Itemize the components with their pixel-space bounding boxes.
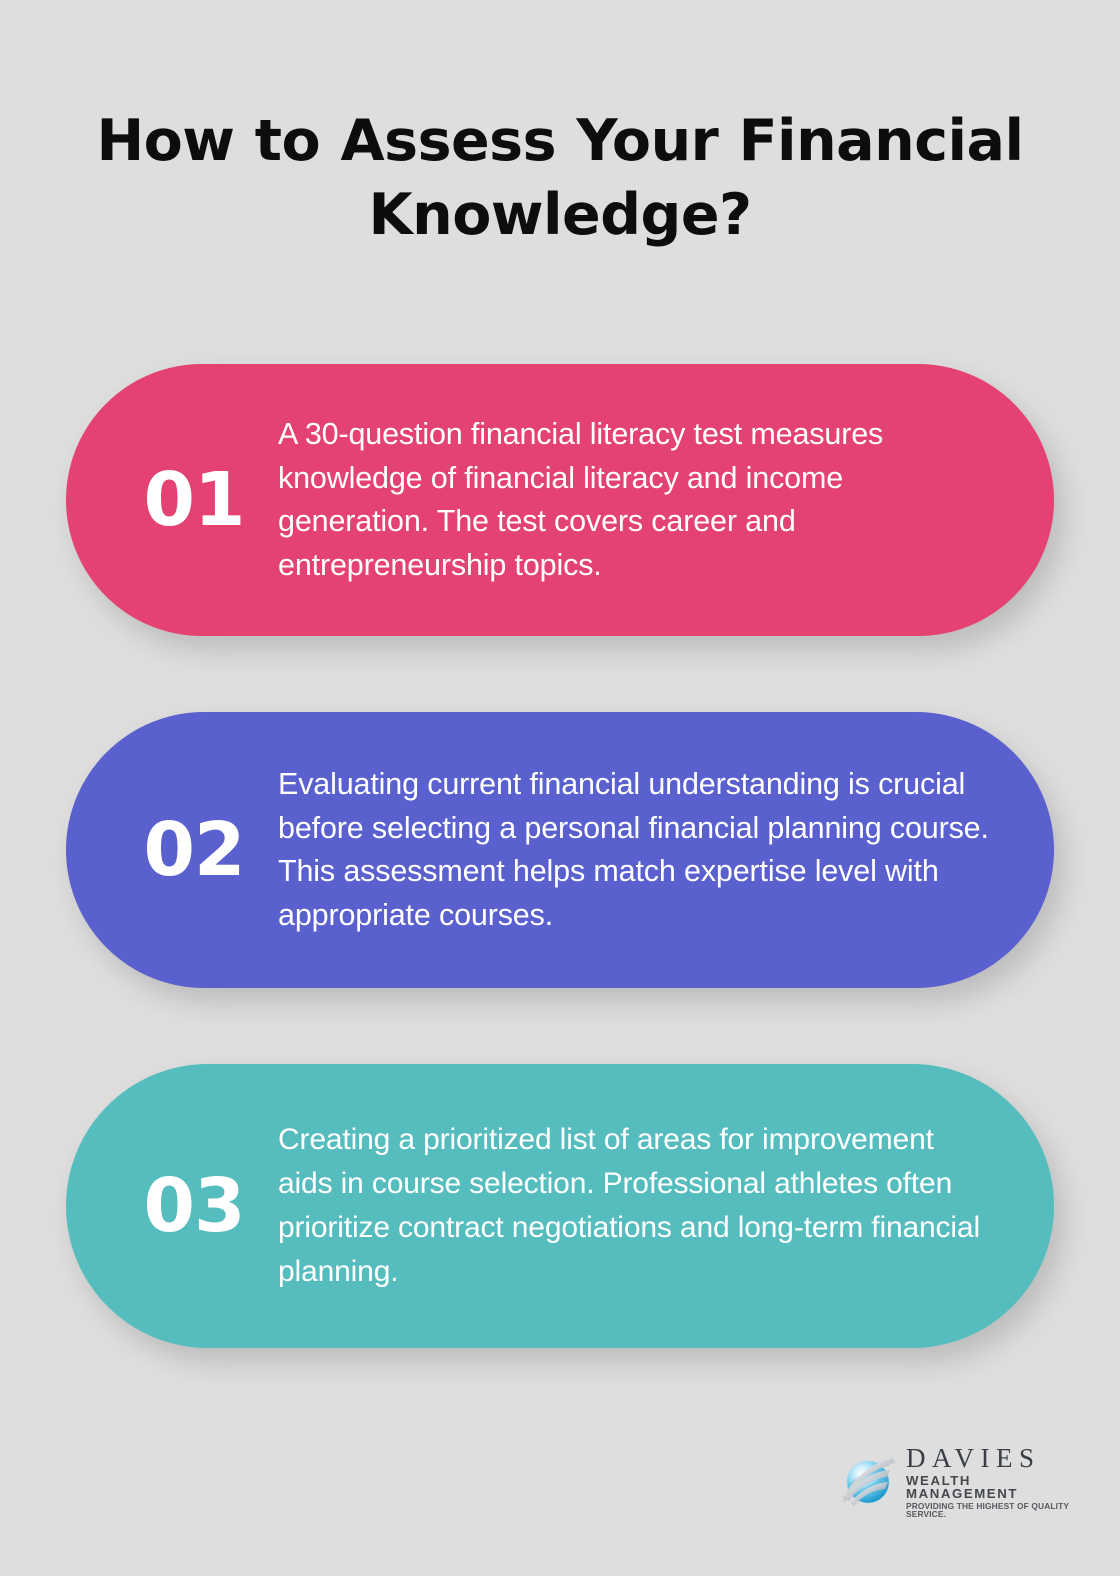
card-body-text: Evaluating current financial understandi… bbox=[278, 763, 1004, 937]
card-number-badge: 01 bbox=[110, 463, 278, 537]
card-number-badge: 02 bbox=[110, 813, 278, 887]
brand-logo: DAVIES WEALTH MANAGEMENT PROVIDING THE H… bbox=[840, 1448, 1072, 1516]
card-body-text: A 30-question financial literacy test me… bbox=[278, 413, 1004, 587]
list-item: 02 Evaluating current financial understa… bbox=[66, 712, 1054, 988]
logo-tagline: PROVIDING THE HIGHEST OF QUALITY SERVICE… bbox=[906, 1503, 1075, 1519]
logo-company-subtitle: WEALTH MANAGEMENT bbox=[906, 1474, 1072, 1500]
cards-list: 01 A 30-question financial literacy test… bbox=[0, 364, 1120, 1348]
page-title: How to Assess Your Financial Knowledge? bbox=[80, 104, 1040, 252]
list-item: 03 Creating a prioritized list of areas … bbox=[66, 1064, 1054, 1348]
logo-company-name: DAVIES bbox=[906, 1445, 1072, 1472]
list-item: 01 A 30-question financial literacy test… bbox=[66, 364, 1054, 636]
infographic-root: How to Assess Your Financial Knowledge? … bbox=[0, 0, 1120, 1576]
card-body-text: Creating a prioritized list of areas for… bbox=[278, 1118, 1004, 1294]
globe-arrows-icon bbox=[840, 1451, 902, 1513]
page-title-block: How to Assess Your Financial Knowledge? bbox=[80, 104, 1040, 252]
logo-wordmark: DAVIES WEALTH MANAGEMENT PROVIDING THE H… bbox=[902, 1445, 1072, 1519]
card-number-badge: 03 bbox=[110, 1169, 278, 1243]
